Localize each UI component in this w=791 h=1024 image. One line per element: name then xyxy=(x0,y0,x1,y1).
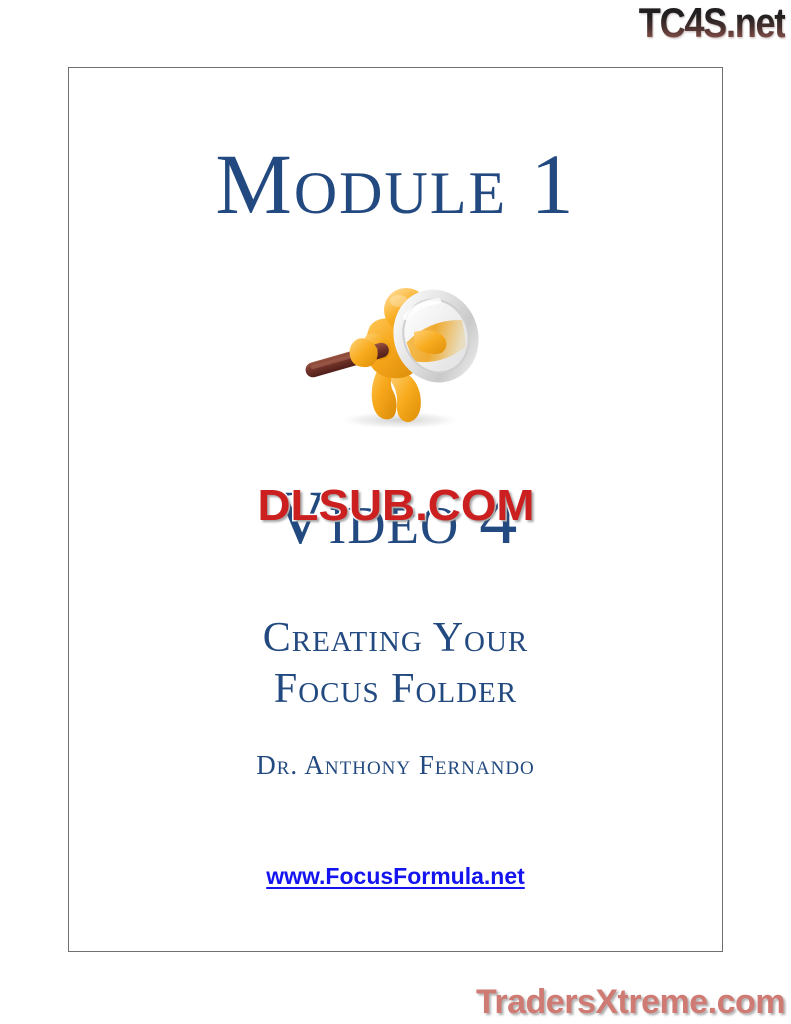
page-content: Module 1 xyxy=(69,68,722,951)
subtitle-line-2: Focus Folder xyxy=(69,664,722,715)
document-page: Module 1 xyxy=(68,67,723,952)
watermark-top-right: TC4S.net xyxy=(639,2,785,44)
illustration-container xyxy=(69,274,722,434)
page-title: Module 1 xyxy=(69,141,722,227)
watermark-center-overlay: DLSUB.COM xyxy=(257,484,534,528)
website-link[interactable]: www.FocusFormula.net xyxy=(266,863,525,889)
author-name: Dr. Anthony Fernando xyxy=(69,752,722,779)
subtitle: Creating Your Focus Folder xyxy=(69,613,722,715)
watermark-bottom-right: TradersXtreme.com xyxy=(476,985,785,1019)
subtitle-line-1: Creating Your xyxy=(69,613,722,664)
magnifying-glass-person-icon xyxy=(296,274,496,434)
website-row: www.FocusFormula.net xyxy=(69,863,722,890)
